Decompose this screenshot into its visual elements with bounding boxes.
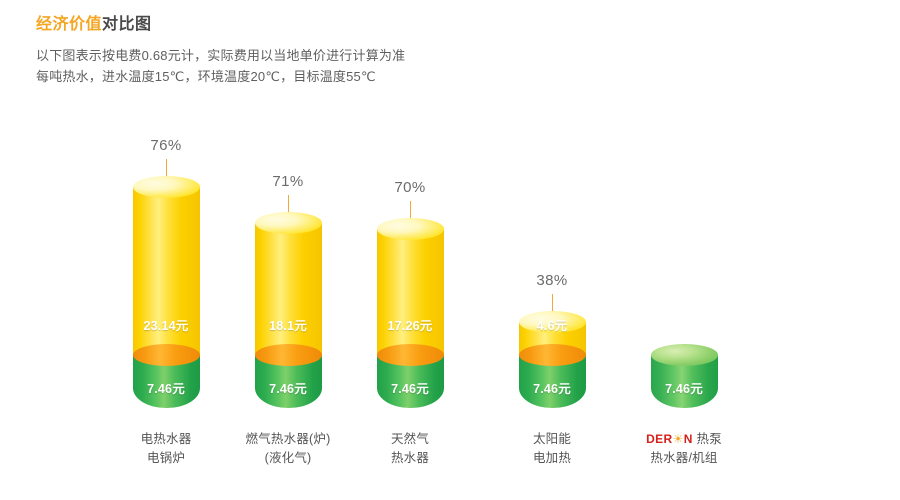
yellow-segment-cap (255, 212, 322, 234)
yellow-segment-body (377, 229, 444, 355)
yellow-segment-base-shade (255, 344, 322, 366)
yellow-segment-base-shade (133, 344, 200, 366)
category-label-line-2: 热水器 (330, 449, 490, 468)
category-label-line-1: DER☀N 热泵 (604, 430, 764, 449)
yellow-segment-value: 17.26元 (377, 315, 444, 334)
green-segment-value: 7.46元 (255, 378, 322, 397)
cylinder[interactable]: 7.46元 (651, 355, 718, 408)
economic-value-chart: 经济价值对比图 以下图表示按电费0.68元计，实际费用以当地单价进行计算为准 每… (0, 0, 900, 500)
yellow-segment[interactable] (377, 229, 444, 355)
yellow-segment-value: 18.1元 (255, 315, 322, 334)
yellow-segment-value: 4.6元 (519, 315, 586, 334)
yellow-segment[interactable] (255, 223, 322, 355)
sun-icon: ☀ (673, 430, 684, 449)
green-segment-value: 7.46元 (519, 378, 586, 397)
green-segment-value: 7.46元 (377, 378, 444, 397)
cylinder[interactable]: 7.46元17.26元 (377, 229, 444, 408)
category-label-line-2: 热水器/机组 (604, 449, 764, 468)
green-segment-value: 7.46元 (133, 378, 200, 397)
yellow-segment-base-shade (377, 344, 444, 366)
cylinder[interactable]: 7.46元18.1元 (255, 223, 322, 408)
yellow-segment-base-shade (519, 344, 586, 366)
cylinder[interactable]: 7.46元23.14元 (133, 187, 200, 408)
category-label-line-1: 天然气 (330, 430, 490, 449)
bar-deron-heatpump[interactable]: 7.46元DER☀N 热泵热水器/机组 (604, 0, 764, 500)
deron-brand-logo: DER☀N (646, 432, 693, 446)
plot-area: 76%7.46元23.14元电热水器电锅炉71%7.46元18.1元燃气热水器(… (0, 0, 900, 500)
brand-tail-text: 热泵 (693, 432, 722, 446)
category-label: DER☀N 热泵热水器/机组 (604, 430, 764, 468)
green-segment-value: 7.46元 (651, 378, 718, 397)
yellow-segment-body (255, 223, 322, 355)
bar-natural-gas[interactable]: 70%7.46元17.26元天然气热水器 (330, 0, 490, 500)
percent-label: 70% (330, 179, 490, 196)
green-segment-cap (651, 344, 718, 366)
yellow-segment-value: 23.14元 (133, 315, 200, 334)
cylinder[interactable]: 7.46元4.6元 (519, 322, 586, 408)
yellow-segment-cap (133, 176, 200, 198)
category-label: 天然气热水器 (330, 430, 490, 468)
